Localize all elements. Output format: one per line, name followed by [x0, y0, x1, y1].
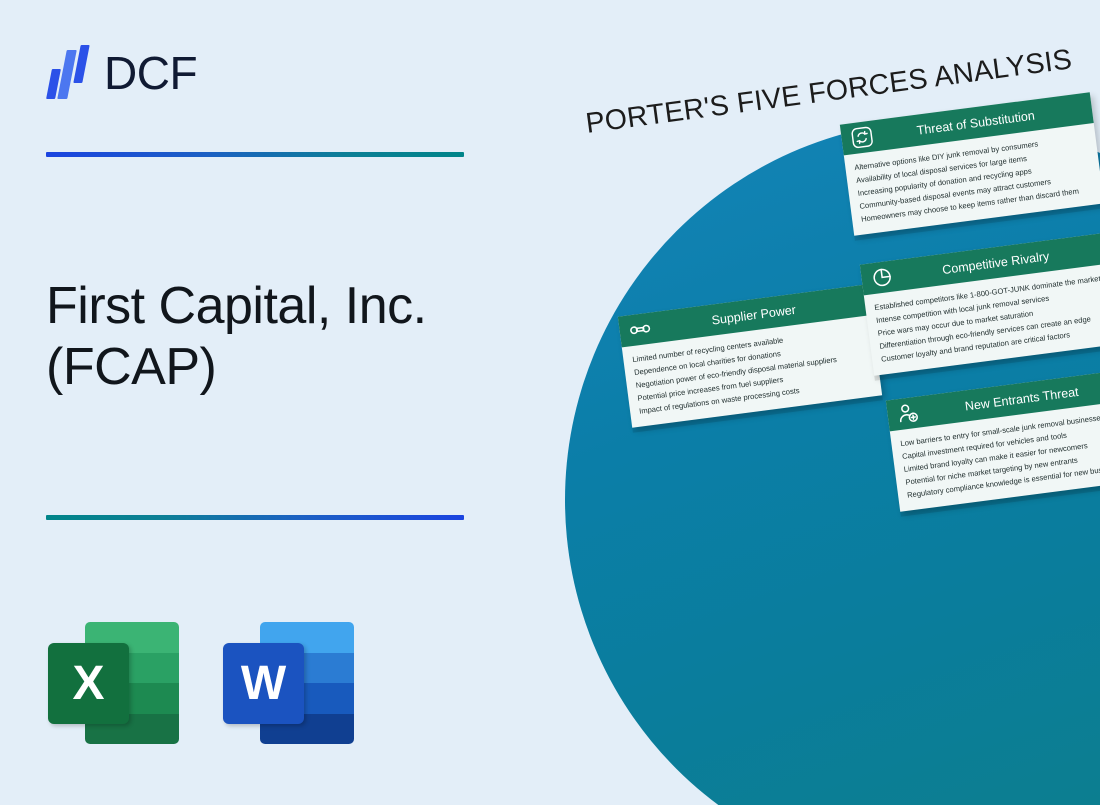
add-user-icon [895, 401, 921, 427]
divider-bottom [46, 515, 464, 520]
brand-logo[interactable]: DCF [46, 42, 197, 104]
page-title: First Capital, Inc. (FCAP) [46, 276, 516, 398]
left-info-panel: DCF First Capital, Inc. (FCAP) X W [0, 0, 540, 805]
brand-name: DCF [104, 50, 197, 96]
word-letter: W [223, 643, 304, 724]
bar-chart-logo-icon [46, 45, 92, 101]
refresh-sync-icon [849, 125, 875, 151]
excel-icon[interactable]: X [48, 622, 179, 744]
office-format-icons: X W [48, 622, 354, 744]
excel-letter: X [48, 643, 129, 724]
pie-chart-icon [869, 265, 895, 291]
divider-top [46, 152, 464, 157]
word-icon[interactable]: W [223, 622, 354, 744]
porter-analysis-panel: PORTER'S FIVE FORCES ANALYSIS Threat of … [540, 0, 1100, 805]
handshake-link-icon [627, 317, 653, 343]
